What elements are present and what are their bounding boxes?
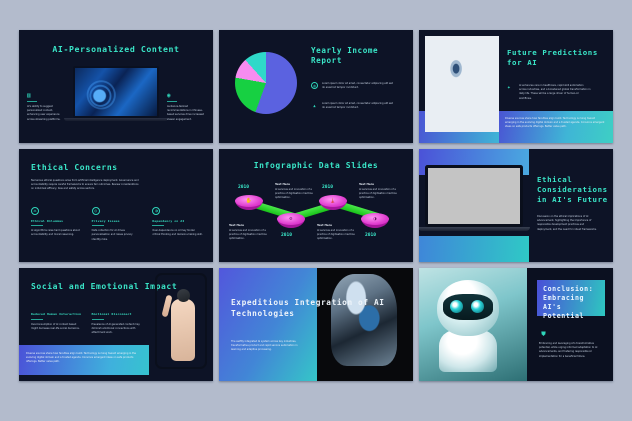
column-heading: Privacy Issues xyxy=(92,219,143,223)
slide-thumbnail-social-emotional-impact[interactable]: Diverse sources share how faculties alig… xyxy=(19,268,213,381)
robot-icon: 🗼 xyxy=(328,198,338,205)
note-text: Embracing and leveraging AI's transforma… xyxy=(539,342,605,359)
infographic-chain: ✋ ⚙ 🗼 ◑ 2010 2010 2010 2010 Tex xyxy=(229,183,403,245)
step-note-text: AI services and innovation of a practice… xyxy=(229,229,273,242)
step-note-text: AI services and innovation of a practice… xyxy=(359,188,403,201)
column-item: ◎ Privacy Issues Data collection for AI … xyxy=(92,207,143,242)
slide-title: Expeditious Integration of AI Technologi… xyxy=(231,298,413,319)
slide-thumbnail-infographic-data-slides[interactable]: Infographic Data Slides ✋ ⚙ 🗼 xyxy=(219,149,413,262)
column-item: Emotional Disconnect Prevalence of AI ge… xyxy=(92,312,144,335)
step-note: Text Here AI services and innovation of … xyxy=(359,182,403,200)
intro-text: Numerous ethical questions arise from ar… xyxy=(31,179,141,192)
column-heading: Emotional Disconnect xyxy=(92,312,144,316)
column-heading: Dependency on AI xyxy=(152,219,203,223)
robot-body xyxy=(439,330,497,372)
robot-head xyxy=(177,289,190,302)
laptop-screen-image xyxy=(73,66,159,118)
step-year: 2010 xyxy=(322,185,333,190)
robot-body xyxy=(171,299,195,361)
step-marker[interactable]: ◑ xyxy=(361,213,389,229)
column-item: ⚖ Ethical Dilemmas AI algorithms raise h… xyxy=(31,207,82,242)
divider xyxy=(152,225,164,226)
slide-thumbnail-expeditious-integration[interactable]: Expeditious Integration of AI Technologi… xyxy=(219,268,413,381)
slide-title: Ethical Concerns xyxy=(31,163,118,174)
robot-eye-right xyxy=(471,300,484,313)
slide-title: AI-Personalized Content xyxy=(52,44,179,55)
laptop-base xyxy=(64,118,168,121)
scales-icon: ⚖ xyxy=(31,207,39,215)
column-list: ⚖ Ethical Dilemmas AI algorithms raise h… xyxy=(31,207,203,242)
column-text: Data collection for AI drives personalis… xyxy=(92,229,143,242)
gradient-panel xyxy=(219,268,317,381)
footer-gradient-bar: Diverse sources share how faculties alig… xyxy=(19,345,149,375)
slide-title: Conclusion: Embracing AI's Potential xyxy=(543,285,605,321)
column-item: Reduced Human Interaction Overconsumptio… xyxy=(31,312,83,335)
slide-thumbnail-ethical-considerations[interactable]: Ethical Considerations in AI's Future Di… xyxy=(419,149,613,262)
title-gradient-band: Conclusion: Embracing AI's Potential xyxy=(537,280,605,316)
bullet-text: Lorem ipsum dolor sit amet, consectetur … xyxy=(322,82,396,90)
step-note-title: Text Here xyxy=(317,223,361,227)
divider xyxy=(92,225,104,226)
divider xyxy=(31,225,43,226)
laptop-base xyxy=(419,227,530,231)
step-marker[interactable]: 🗼 xyxy=(319,195,347,211)
step-marker[interactable]: ⚙ xyxy=(277,213,305,229)
bullet-text: Lorem ipsum dolor sit amet, consectetur … xyxy=(322,102,396,110)
note-right: ◉ Audience-tailored recommendations in C… xyxy=(167,92,205,122)
slide-thumbnail-yearly-income-report[interactable]: Yearly Income Report ◍ Lorem ipsum dolor… xyxy=(219,30,413,143)
slide-thumbnail-conclusion[interactable]: Conclusion: Embracing AI's Potential ⛊ E… xyxy=(419,268,613,381)
step-note-title: Text Here xyxy=(359,182,403,186)
divider xyxy=(31,319,43,320)
footer-note-text: Diverse sources share how faculties alig… xyxy=(26,352,142,364)
bottom-gradient-band xyxy=(419,236,529,262)
slide-thumbnail-ai-personalized-content[interactable]: AI-Personalized Content ▥ AI's ability t… xyxy=(19,30,213,143)
step-year: 2010 xyxy=(281,233,292,238)
note-right-text: Audience-tailored recommendations in Chi… xyxy=(167,105,205,122)
chart-icon: ▲ xyxy=(311,102,318,109)
step-year: 2010 xyxy=(365,233,376,238)
slide-thumbnail-future-predictions-for-ai[interactable]: Diverse sources share how faculties alig… xyxy=(419,30,613,143)
column-text: Over-dependence on AI may hinder critica… xyxy=(152,229,203,237)
note-text: AI enhances care in healthcare, rapid sk… xyxy=(519,84,591,101)
globe-icon: ◍ xyxy=(311,82,318,89)
gear-icon: ⚙ xyxy=(286,216,296,223)
laptop-mockup xyxy=(73,66,159,121)
column-text: Overconsumption of AI content based migh… xyxy=(31,323,83,331)
slide-title: Ethical Considerations in AI's Future xyxy=(537,175,613,205)
robot-eye-left xyxy=(450,300,463,313)
column-item: ◑ Dependency on AI Over-dependence on AI… xyxy=(152,207,203,242)
shield-icon: ⛊ xyxy=(539,330,548,339)
step-note-text: AI services and innovation of a practice… xyxy=(317,229,361,242)
slide-thumbnail-ethical-concerns[interactable]: Ethical Concerns Numerous ethical questi… xyxy=(19,149,213,262)
step-year: 2010 xyxy=(238,185,249,190)
white-teal-robot-image xyxy=(419,268,527,381)
laptop-screen-placeholder xyxy=(425,165,523,227)
lock-icon: ◎ xyxy=(92,207,100,215)
column-heading: Ethical Dilemmas xyxy=(31,219,82,223)
pie-chart xyxy=(235,52,297,114)
metallic-android-head-image xyxy=(331,274,397,366)
step-note: Text Here AI services and innovation of … xyxy=(317,223,361,241)
step-note: Text Here AI services and innovation of … xyxy=(229,223,273,241)
column-list: Reduced Human Interaction Overconsumptio… xyxy=(31,312,143,335)
grid-icon: ▥ xyxy=(27,92,65,99)
footer-gradient-bar: Diverse sources share how faculties alig… xyxy=(499,111,613,143)
slide-title: Infographic Data Slides xyxy=(254,161,379,172)
note-left-text: AI's ability to suggest personalized con… xyxy=(27,105,65,122)
step-note-title: Text Here xyxy=(229,223,273,227)
phone-with-robot-image xyxy=(155,273,207,369)
slide-grid: AI-Personalized Content ▥ AI's ability t… xyxy=(19,30,613,381)
step-note: Text Here AI services and innovation of … xyxy=(275,182,319,200)
bullet-row: ◍ Lorem ipsum dolor sit amet, consectetu… xyxy=(311,82,396,90)
laptop-mockup xyxy=(425,165,523,231)
note-text: The swiftly integrated AI system across … xyxy=(231,340,299,353)
step-note-title: Text Here xyxy=(275,182,319,186)
divider xyxy=(167,101,177,102)
column-text: AI algorithms raise hard questions about… xyxy=(31,229,82,237)
divider xyxy=(27,101,37,102)
bullet-row: ▲ Lorem ipsum dolor sit amet, consectetu… xyxy=(311,102,396,110)
divider xyxy=(92,319,104,320)
text-panel xyxy=(529,149,613,262)
target-icon: ◉ xyxy=(167,92,205,99)
slide-title: Yearly Income Report xyxy=(311,46,413,67)
footer-note-text: Diverse sources share how faculties alig… xyxy=(505,117,607,129)
sparkle-icon: ✦ xyxy=(507,84,515,101)
column-text: Prevalence of AI generated content may d… xyxy=(92,323,144,336)
link-icon: ◑ xyxy=(152,207,160,215)
white-android-face-image xyxy=(425,36,499,132)
slide-title: Future Predictions for AI xyxy=(507,48,613,68)
step-note-text: AI services and innovation of a practice… xyxy=(275,188,319,201)
note-row: ✦ AI enhances care in healthcare, rapid … xyxy=(507,84,591,101)
chip-icon: ◑ xyxy=(370,216,380,223)
note-text: Discussion on the ethical implications o… xyxy=(537,215,599,232)
note-left: ▥ AI's ability to suggest personalized c… xyxy=(27,92,65,122)
column-heading: Reduced Human Interaction xyxy=(31,312,83,316)
hand-icon: ✋ xyxy=(244,198,254,205)
step-marker[interactable]: ✋ xyxy=(235,195,263,211)
